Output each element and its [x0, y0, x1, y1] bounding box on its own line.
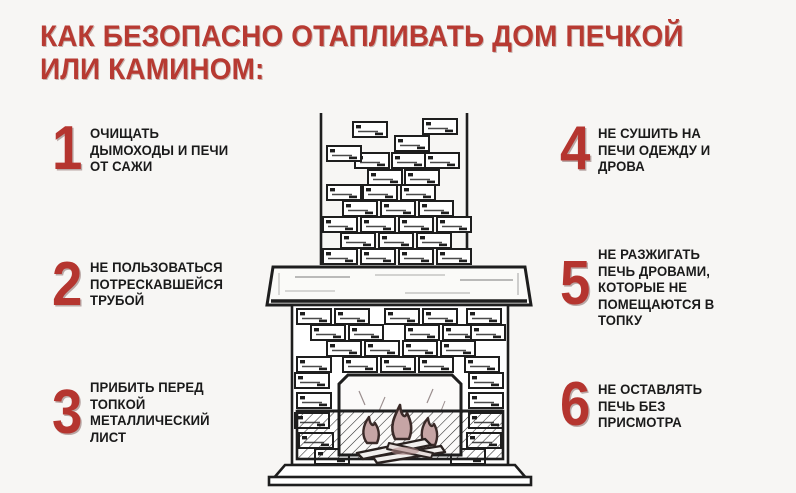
brick-fireplace-illustration — [255, 105, 545, 490]
tip-text-2: НЕ ПОЛЬЗОВАТЬСЯ ПОТРЕСКАВШЕЙСЯ ТРУБОЙ — [90, 256, 223, 310]
tip-text-3: ПРИБИТЬ ПЕРЕД ТОПКОЙ МЕТАЛЛИЧЕСКИЙ ЛИСТ — [90, 376, 210, 446]
page-title: КАК БЕЗОПАСНО ОТАПЛИВАТЬ ДОМ ПЕЧКОЙ ИЛИ … — [40, 20, 710, 86]
tip-item-5: 5 НЕ РАЗЖИГАТЬ ПЕЧЬ ДРОВАМИ, КОТОРЫЕ НЕ … — [560, 243, 718, 330]
hearth-base — [269, 465, 531, 485]
mantel-shelf — [267, 267, 531, 305]
tip-number-1: 1 — [52, 122, 85, 176]
tip-item-4: 4 НЕ СУШИТЬ НА ПЕЧИ ОДЕЖДУ И ДРОВА — [560, 122, 714, 176]
tip-number-4: 4 — [560, 122, 593, 176]
tip-item-3: 3 ПРИБИТЬ ПЕРЕД ТОПКОЙ МЕТАЛЛИЧЕСКИЙ ЛИС… — [52, 376, 213, 446]
tip-text-5: НЕ РАЗЖИГАТЬ ПЕЧЬ ДРОВАМИ, КОТОРЫЕ НЕ ПО… — [598, 243, 714, 330]
tip-number-2: 2 — [52, 256, 85, 312]
tip-item-1: 1 ОЧИЩАТЬ ДЫМОХОДЫ И ПЕЧИ ОТ САЖИ — [52, 122, 232, 176]
fireplace-body — [292, 305, 508, 465]
tip-text-4: НЕ СУШИТЬ НА ПЕЧИ ОДЕЖДУ И ДРОВА — [598, 122, 710, 176]
tip-item-2: 2 НЕ ПОЛЬЗОВАТЬСЯ ПОТРЕСКАВШЕЙСЯ ТРУБОЙ — [52, 256, 227, 312]
tip-number-3: 3 — [52, 376, 85, 440]
poster-canvas: КАК БЕЗОПАСНО ОТАПЛИВАТЬ ДОМ ПЕЧКОЙ ИЛИ … — [0, 0, 796, 493]
tip-item-6: 6 НЕ ОСТАВЛЯТЬ ПЕЧЬ БЕЗ ПРИСМОТРА — [560, 378, 705, 432]
tip-number-6: 6 — [560, 378, 593, 432]
tip-text-6: НЕ ОСТАВЛЯТЬ ПЕЧЬ БЕЗ ПРИСМОТРА — [598, 378, 702, 432]
tip-number-5: 5 — [560, 243, 593, 311]
tip-text-1: ОЧИЩАТЬ ДЫМОХОДЫ И ПЕЧИ ОТ САЖИ — [90, 122, 228, 176]
chimney-stack — [321, 113, 471, 265]
